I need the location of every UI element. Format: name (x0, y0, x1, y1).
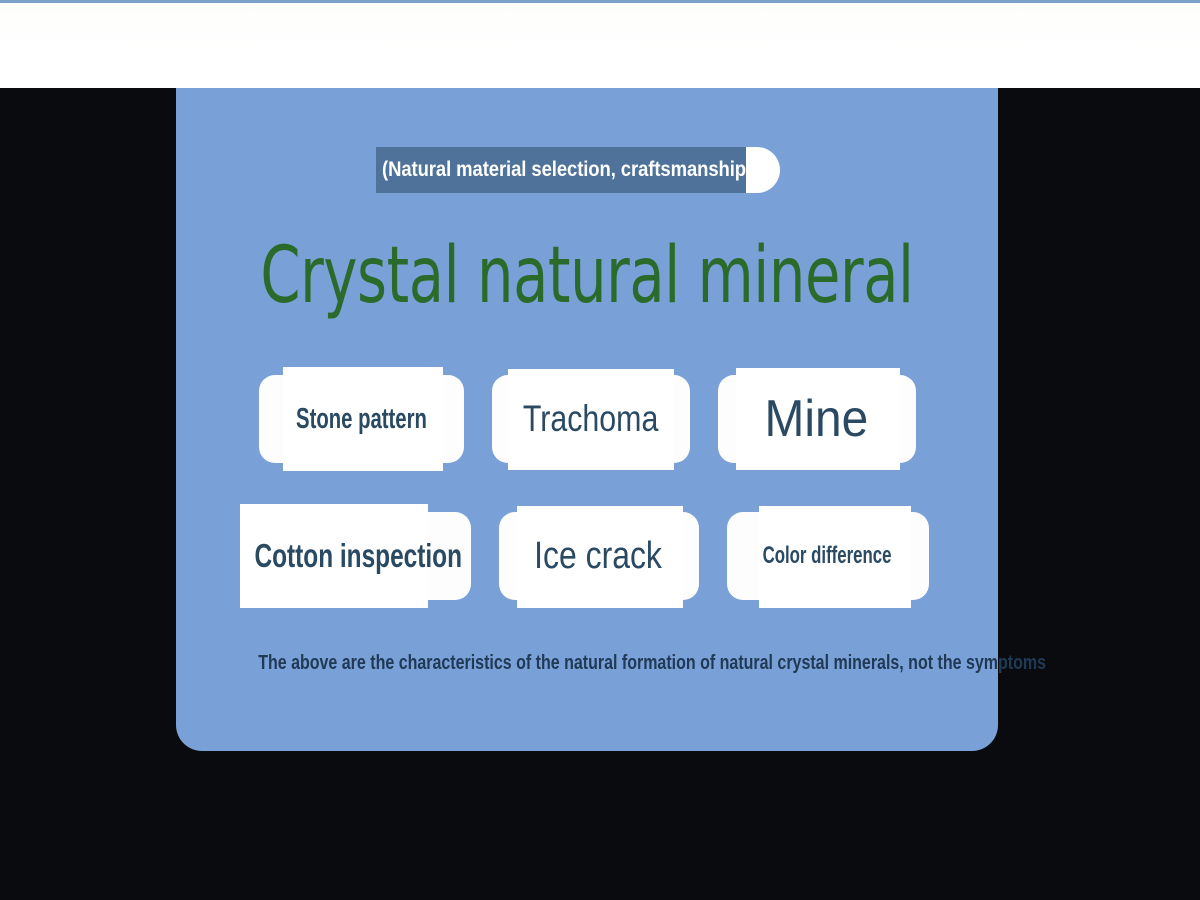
pill-label: Trachoma (523, 398, 658, 440)
header-banner-bar: (Natural material selection, craftsmansh… (376, 147, 758, 193)
pill-ice-crack[interactable]: Ice crack (499, 512, 699, 600)
pill-label: Color difference (763, 542, 892, 570)
top-white-strip (0, 3, 1200, 88)
footer-caption: The above are the characteristics of the… (258, 652, 916, 675)
feature-pill-row-2: Cotton inspection Ice crack Color differ… (176, 512, 998, 600)
pill-label: Mine (765, 389, 869, 449)
pill-color-difference[interactable]: Color difference (727, 512, 929, 600)
pill-label: Stone pattern (296, 403, 427, 436)
header-banner-cap (746, 147, 780, 193)
pill-cotton-inspection[interactable]: Cotton inspection (246, 512, 471, 600)
page-title: Crystal natural mineral (250, 234, 924, 318)
pill-stone-pattern[interactable]: Stone pattern (259, 375, 464, 463)
pill-label: Cotton inspection (254, 537, 462, 575)
pill-mine[interactable]: Mine (718, 375, 916, 463)
screenshot-root: (Natural material selection, craftsmansh… (0, 0, 1200, 900)
header-banner: (Natural material selection, craftsmansh… (376, 147, 786, 193)
feature-pill-row-1: Stone pattern Trachoma Mine (176, 375, 998, 463)
slide-card: (Natural material selection, craftsmansh… (176, 88, 998, 751)
pill-trachoma[interactable]: Trachoma (492, 375, 690, 463)
header-banner-label: (Natural material selection, craftsmansh… (382, 158, 746, 182)
pill-label: Ice crack (535, 535, 663, 578)
